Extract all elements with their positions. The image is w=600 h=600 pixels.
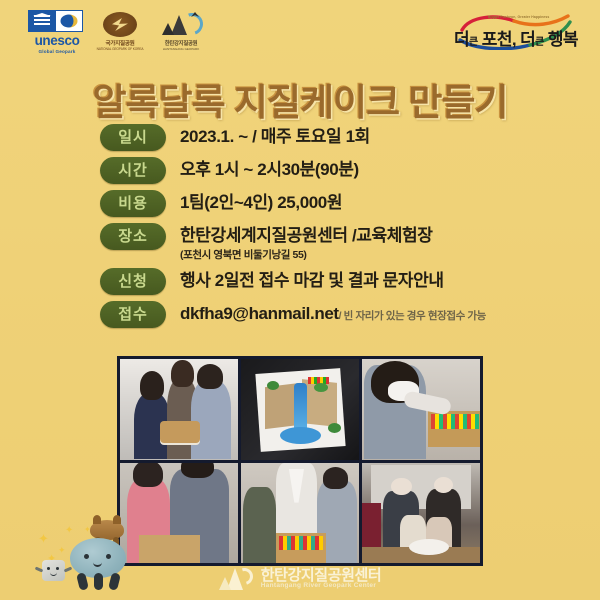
pocheon-slogan-part4: 행복 xyxy=(548,30,578,49)
info-value-application: 행사 2일전 접수 마감 및 결과 문자안내 xyxy=(166,268,570,291)
photo-cell-5 xyxy=(241,463,359,564)
unesco-wordmark: unesco xyxy=(28,34,86,48)
brown-mascot xyxy=(90,520,124,540)
info-row-place: 장소 한탄강세계지질공원센터 /교육체험장 (포천시 영북면 비둘기낭길 55) xyxy=(100,223,570,266)
sparkle-icon: ✦ xyxy=(38,532,49,545)
poster-header: unesco Global Geopark 국가지질공원 NATIONAL GE… xyxy=(0,0,600,64)
photo-cell-6 xyxy=(362,463,480,564)
photo-cell-1 xyxy=(120,359,238,460)
info-label-place: 장소 xyxy=(100,223,166,250)
registration-email[interactable]: dkfha9@hanmail.net xyxy=(180,304,339,323)
info-value-cost: 1팀(2인~4인) 25,000원 xyxy=(166,190,570,213)
unesco-global-geopark-logo: unesco Global Geopark xyxy=(28,10,86,54)
sparkle-icon: ✦ xyxy=(65,526,73,536)
hantangang-river-geopark-center-logo xyxy=(219,566,253,592)
footer-text-block: 한탄강지질공원센터 Hantangang River Geopark Cente… xyxy=(261,568,382,591)
pocheon-slogan: 더큰 포천, 더큰 행복 xyxy=(454,25,578,50)
info-row-cost: 비용 1팀(2인~4인) 25,000원 xyxy=(100,190,570,219)
info-value-place: 한탄강세계지질공원센터 /교육체험장 xyxy=(180,226,433,245)
pocheon-slogan-small2: 큰 xyxy=(535,37,544,48)
national-geopark-name-ko: 국가지질공원 xyxy=(95,39,145,47)
sparkle-icon: ✦ xyxy=(58,546,66,555)
pocheon-slogan-small1: 큰 xyxy=(469,37,478,48)
unesco-tagline: Global Geopark xyxy=(28,49,86,54)
info-row-time: 시간 오후 1시 ~ 2시30분(90분) xyxy=(100,157,570,186)
poster-footer: 한탄강지질공원센터 Hantangang River Geopark Cente… xyxy=(0,566,600,592)
national-geopark-name-en: NATIONAL GEOPARK OF KOREA xyxy=(95,47,145,51)
info-value-date: 2023.1. ~ / 매주 토요일 1회 xyxy=(166,124,570,147)
photo-gallery-grid xyxy=(117,356,483,566)
info-value-time: 오후 1시 ~ 2시30분(90분) xyxy=(166,157,570,180)
national-geopark-icon xyxy=(103,12,137,37)
partner-logos: unesco Global Geopark 국가지질공원 NATIONAL GE… xyxy=(28,10,208,54)
hantangang-geopark-logo: 한탄강지질공원 HANTANGANG GEOPARK xyxy=(154,10,208,51)
pocheon-slogan-part2: 포천, xyxy=(482,30,516,49)
info-label-application: 신청 xyxy=(100,268,166,295)
national-geopark-logo: 국가지질공원 NATIONAL GEOPARK OF KOREA xyxy=(95,10,145,51)
event-details-list: 일시 2023.1. ~ / 매주 토요일 1회 시간 오후 1시 ~ 2시30… xyxy=(100,124,570,334)
info-row-application: 신청 행사 2일전 접수 마감 및 결과 문자안내 xyxy=(100,268,570,297)
info-value-registration-wrap: dkfha9@hanmail.net/ 빈 자리가 있는 경우 현장접수 가능 xyxy=(166,301,570,327)
info-label-date: 일시 xyxy=(100,124,166,151)
hantangang-geopark-icon xyxy=(158,12,204,38)
pocheon-slogan-part3: 더 xyxy=(520,30,535,49)
info-row-registration: 접수 dkfha9@hanmail.net/ 빈 자리가 있는 경우 현장접수 … xyxy=(100,301,570,330)
photo-cell-3 xyxy=(362,359,480,460)
info-label-cost: 비용 xyxy=(100,190,166,217)
photo-cell-2 xyxy=(241,359,359,460)
unesco-temple-globe-icon xyxy=(28,10,83,32)
registration-note: / 빈 자리가 있는 경우 현장접수 가능 xyxy=(339,310,486,322)
pocheon-tagline-en: Bigger Pocheon, Greater Happiness xyxy=(488,15,549,19)
hantangang-geopark-name-ko: 한탄강지질공원 xyxy=(154,39,208,47)
footer-name-en: Hantangang River Geopark Center xyxy=(261,583,382,590)
pocheon-city-logo: Bigger Pocheon, Greater Happiness 더큰 포천,… xyxy=(454,14,576,54)
poster-title: 알록달록 지질케이크 만들기 xyxy=(0,72,600,126)
info-label-time: 시간 xyxy=(100,157,166,184)
info-row-date: 일시 2023.1. ~ / 매주 토요일 1회 xyxy=(100,124,570,153)
info-value-place-wrap: 한탄강세계지질공원센터 /교육체험장 (포천시 영북면 비둘기낭길 55) xyxy=(166,223,570,266)
info-label-registration: 접수 xyxy=(100,301,166,328)
footer-name-ko: 한탄강지질공원센터 xyxy=(261,568,382,584)
info-value-place-address: (포천시 영북면 비둘기낭길 55) xyxy=(180,245,570,266)
hantangang-geopark-name-en: HANTANGANG GEOPARK xyxy=(154,47,208,51)
pocheon-slogan-part1: 더 xyxy=(454,30,469,49)
event-poster: unesco Global Geopark 국가지질공원 NATIONAL GE… xyxy=(0,0,600,600)
